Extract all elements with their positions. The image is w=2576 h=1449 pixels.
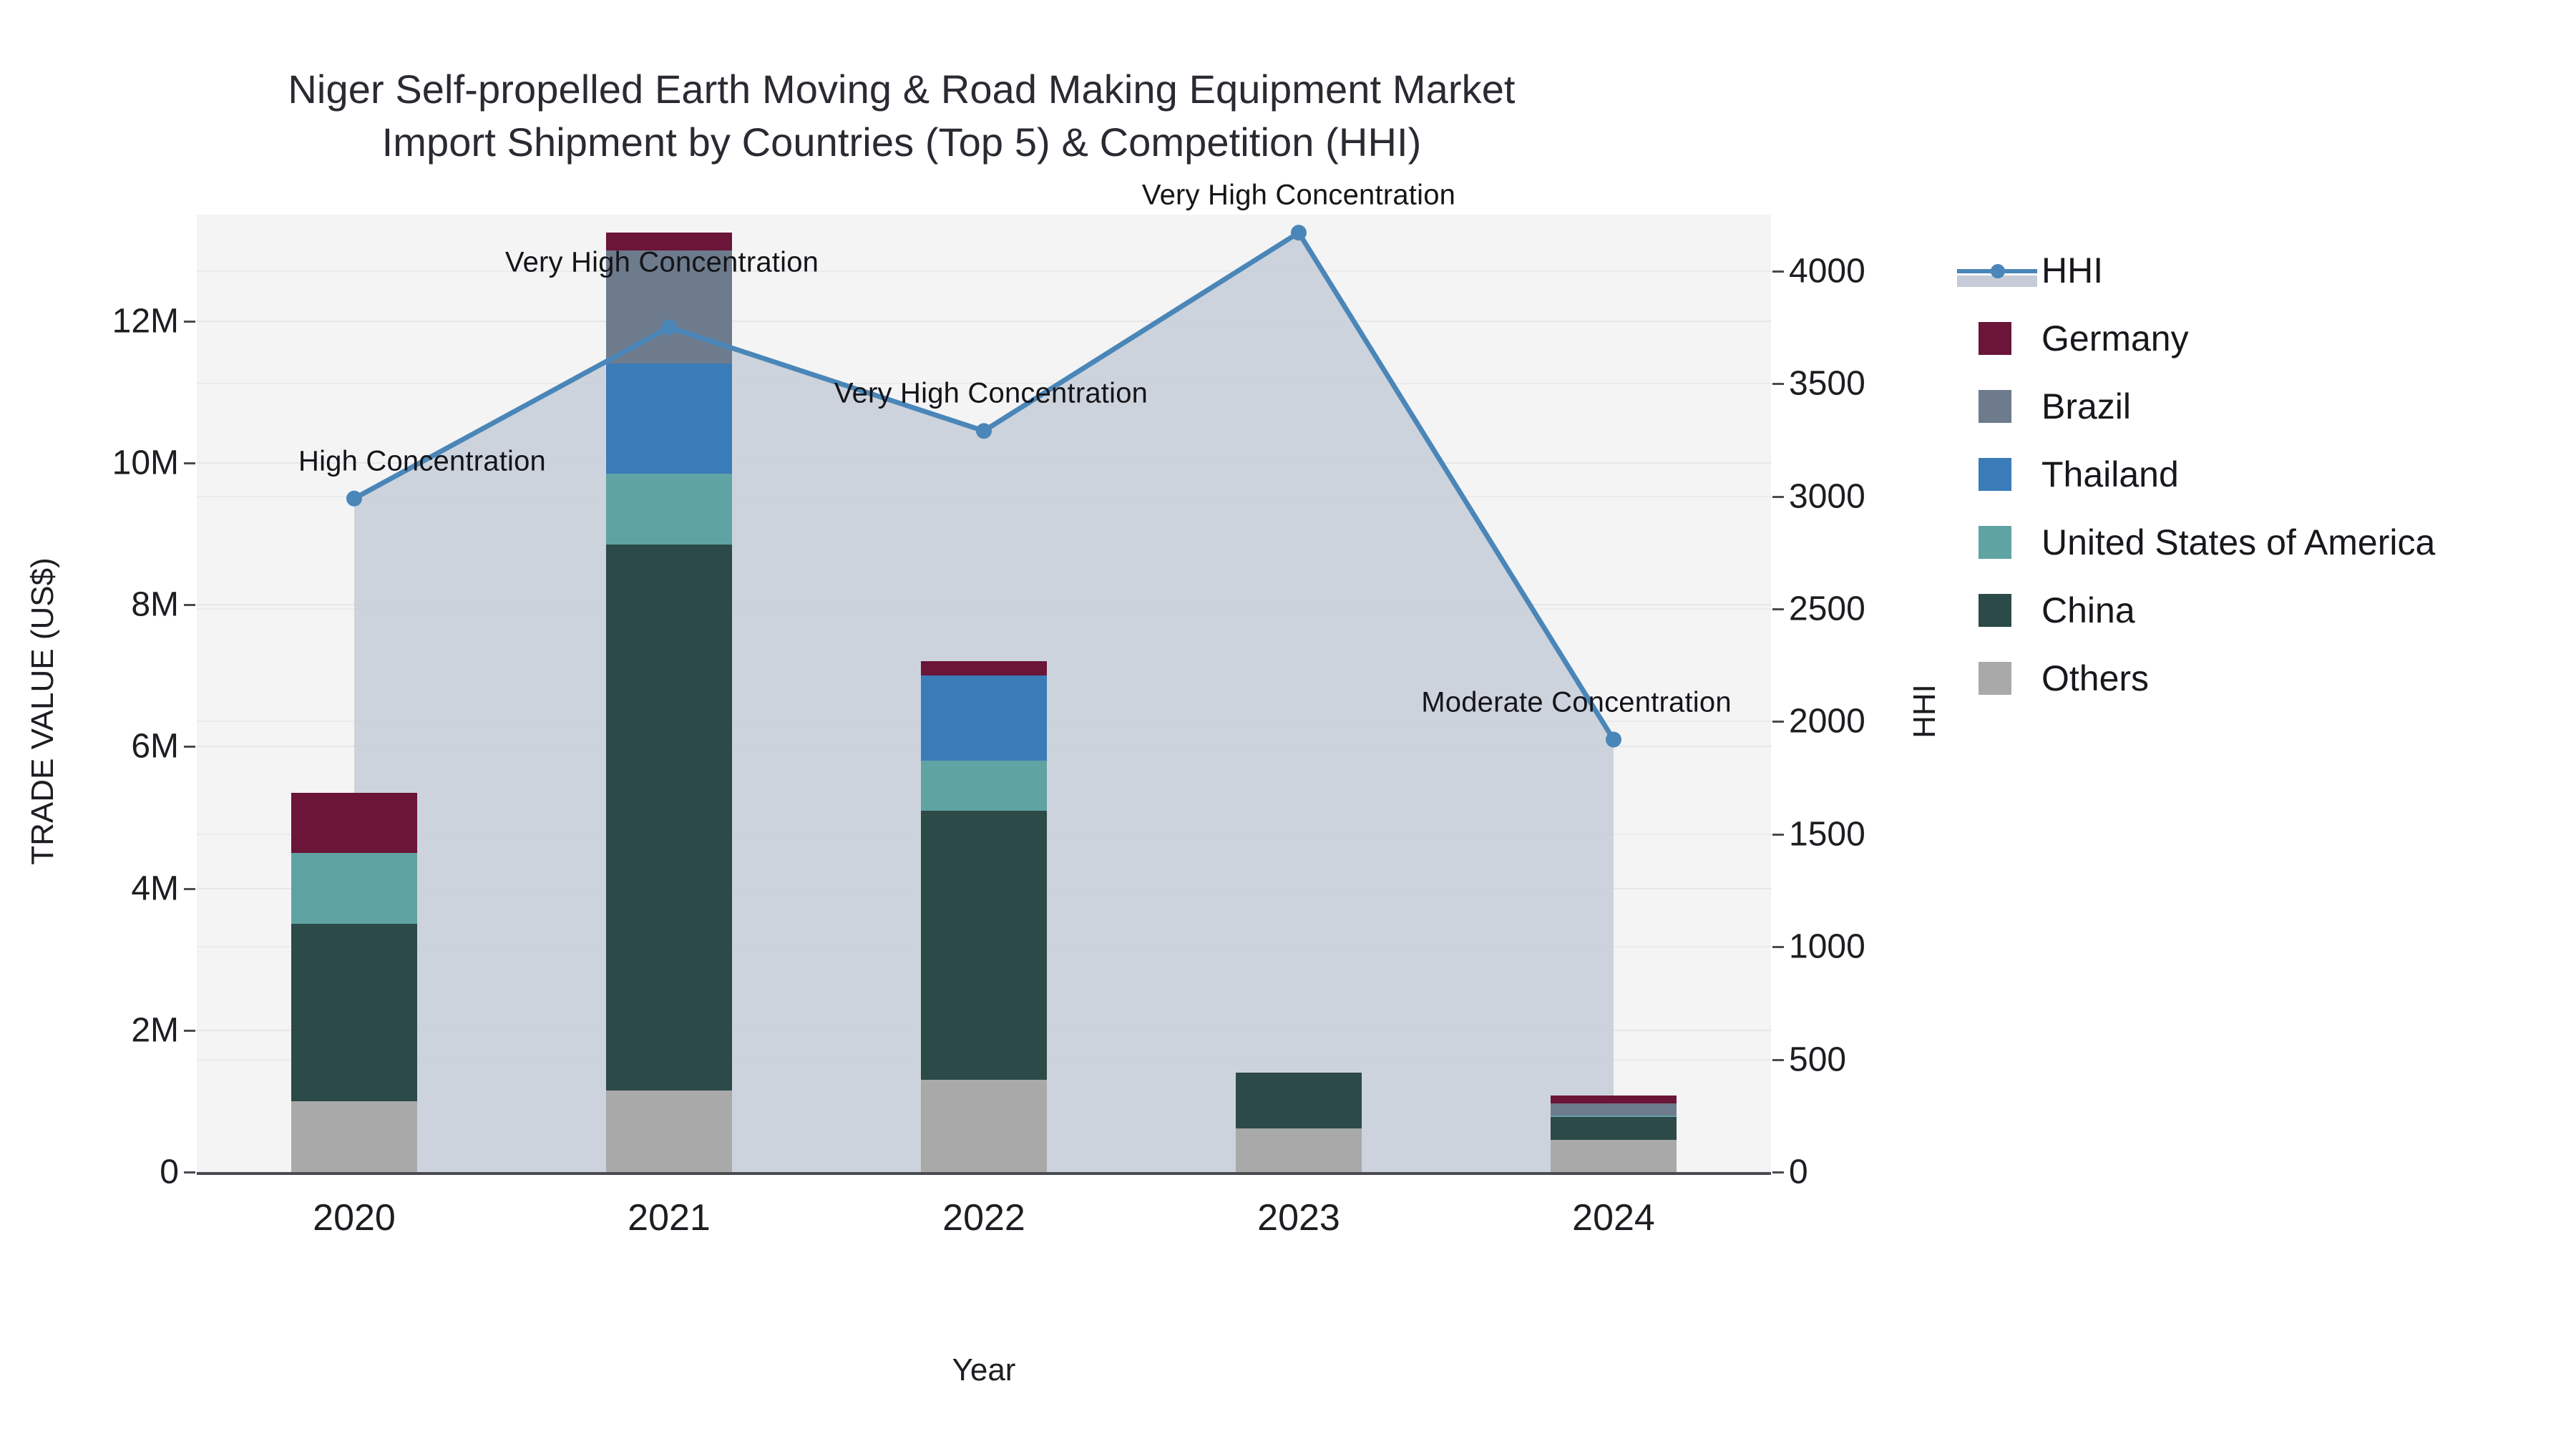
legend-item-germany[interactable]: Germany (1957, 304, 2572, 372)
annotation-2022: Very High Concentration (834, 378, 1148, 410)
x-axis-title: Year (197, 1352, 1771, 1388)
y-axis-left-tick-label: 0 (0, 1153, 179, 1192)
y-axis-right-tick-label: 4000 (1789, 251, 1975, 291)
x-axis-tick-label-2021: 2021 (562, 1196, 776, 1239)
y-axis-left-tickmark (184, 462, 195, 464)
y-axis-right-tickmark (1772, 383, 1784, 385)
x-axis-tick-label-2024: 2024 (1506, 1196, 1721, 1239)
y-axis-right-tickmark (1772, 1059, 1784, 1061)
y-axis-left-tickmark (184, 888, 195, 890)
y-axis-right-tick-label: 1000 (1789, 927, 1975, 967)
y-axis-right-tick-label: 3000 (1789, 477, 1975, 516)
legend-color-swatch (1979, 662, 2011, 695)
legend-item-thailand[interactable]: Thailand (1957, 440, 2572, 508)
y-axis-right-tickmark (1772, 946, 1784, 948)
y-axis-right-tickmark (1772, 608, 1784, 610)
legend-item-hhi[interactable]: HHI (1957, 236, 2572, 304)
x-axis-tick-label-2022: 2022 (877, 1196, 1091, 1239)
y-axis-left-title: TRADE VALUE (US$) (25, 461, 61, 962)
legend-color-swatch (1979, 594, 2011, 627)
y-axis-right-tick-label: 1500 (1789, 814, 1975, 854)
y-axis-left-tick-label: 2M (0, 1010, 179, 1050)
legend-item-others[interactable]: Others (1957, 644, 2572, 712)
y-axis-right-tick-label: 0 (1789, 1153, 1975, 1192)
x-axis-tick-label-2020: 2020 (247, 1196, 462, 1239)
y-axis-right-tickmark (1772, 1171, 1784, 1174)
legend-line-icon (1957, 254, 2037, 287)
legend-item-label: United States of America (2041, 522, 2435, 563)
annotation-2020: High Concentration (298, 445, 546, 477)
y-axis-right-tick-label: 3500 (1789, 364, 1975, 404)
legend-item-label: China (2041, 590, 2135, 631)
y-axis-left-tickmark (184, 1171, 195, 1174)
y-axis-right-tick-label: 500 (1789, 1040, 1975, 1079)
y-axis-right-tick-label: 2000 (1789, 702, 1975, 741)
legend-item-label: HHI (2041, 250, 2103, 291)
y-axis-right-title: HHI (1907, 597, 1943, 826)
annotation-2021: Very High Concentration (505, 247, 819, 279)
y-axis-right-tickmark (1772, 834, 1784, 836)
y-axis-left-tickmark (184, 604, 195, 606)
legend-item-label: Brazil (2041, 386, 2131, 427)
y-axis-right-tickmark (1772, 270, 1784, 273)
legend-color-swatch (1979, 322, 2011, 355)
y-axis-left-tickmark (184, 321, 195, 323)
x-axis-tick-label-2023: 2023 (1191, 1196, 1406, 1239)
annotation-2023: Very High Concentration (1142, 180, 1455, 212)
legend-color-swatch (1979, 458, 2011, 491)
y-axis-right-tick-label: 2500 (1789, 589, 1975, 628)
chart-legend: HHIGermanyBrazilThailandUnited States of… (1957, 236, 2572, 712)
y-axis-left-tickmark (184, 746, 195, 748)
y-axis-right-tickmark (1772, 721, 1784, 723)
y-axis-right-tickmark (1772, 496, 1784, 498)
legend-color-swatch (1979, 390, 2011, 423)
legend-item-label: Thailand (2041, 454, 2179, 495)
axis-labels-layer: 02M4M6M8M10M12M 050010001500200025003000… (0, 0, 2576, 1449)
y-axis-left-tickmark (184, 1030, 195, 1032)
legend-item-united-states-of-america[interactable]: United States of America (1957, 508, 2572, 576)
chart-figure: Niger Self-propelled Earth Moving & Road… (0, 0, 2576, 1449)
y-axis-left-tick-label: 12M (0, 301, 179, 341)
legend-item-brazil[interactable]: Brazil (1957, 372, 2572, 440)
legend-line-marker-dot (1991, 264, 2005, 278)
legend-item-label: Germany (2041, 318, 2189, 359)
annotation-2024: Moderate Concentration (1421, 686, 1732, 718)
legend-color-swatch (1979, 526, 2011, 559)
legend-item-label: Others (2041, 658, 2149, 699)
legend-item-china[interactable]: China (1957, 576, 2572, 644)
